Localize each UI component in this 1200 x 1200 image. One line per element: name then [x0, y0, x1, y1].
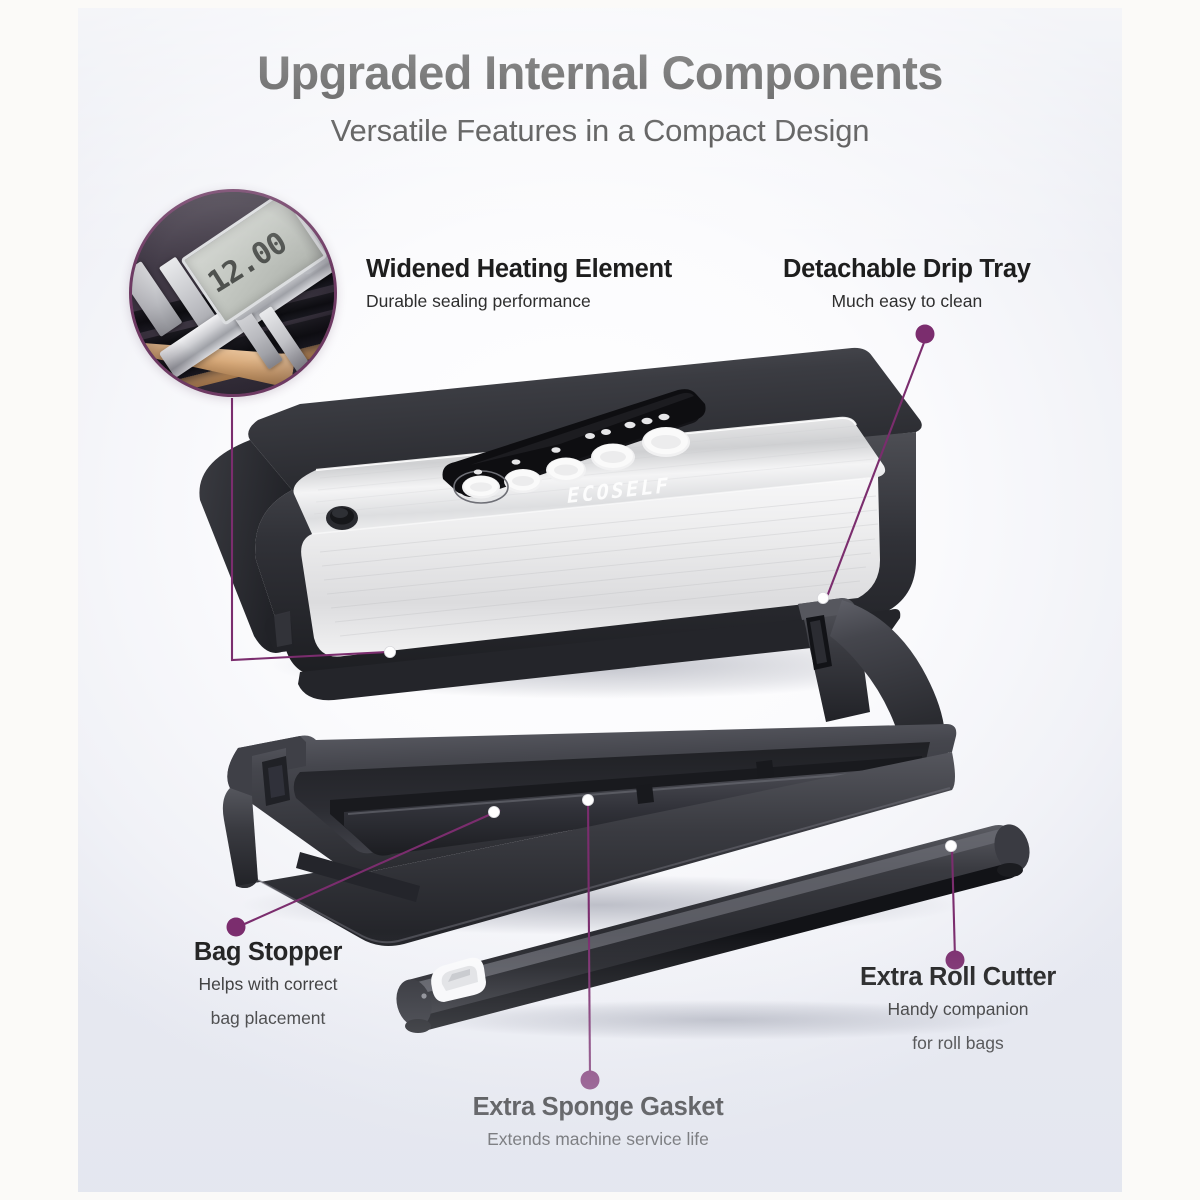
panel-button-4: [591, 444, 635, 471]
leader-dot-drip: [916, 325, 935, 344]
callout-subtitle: Helps with correct bag placement: [148, 972, 388, 1031]
panel-button-3: [546, 458, 586, 483]
callout-heating-element: Widened Heating Element Durable sealing …: [366, 255, 672, 314]
infographic-canvas: Upgraded Internal Components Versatile F…: [78, 8, 1122, 1192]
anchor-drip: [817, 592, 828, 603]
infographic-root: Upgraded Internal Components Versatile F…: [0, 0, 1200, 1200]
anchor-heating: [384, 646, 395, 657]
callout-title: Extra Roll Cutter: [843, 963, 1073, 992]
panel-button-1-power: [454, 471, 508, 503]
anchor-bag: [488, 806, 499, 817]
anchor-cutter: [945, 840, 956, 851]
callout-subtitle: Handy companion for roll bags: [843, 997, 1073, 1056]
callout-subtitle: Durable sealing performance: [366, 289, 672, 314]
callout-title: Widened Heating Element: [366, 255, 672, 284]
leader-dot-bag: [227, 918, 246, 937]
heating-element-inset-photo: 12.00: [129, 189, 337, 397]
inset-vignette: [132, 192, 334, 394]
callout-subtitle-line2: for roll bags: [843, 1031, 1073, 1056]
callout-subtitle: Much easy to clean: [783, 289, 1031, 314]
panel-button-2: [504, 469, 542, 493]
callout-sponge-gasket: Extra Sponge Gasket Extends machine serv…: [453, 1093, 743, 1152]
anchor-sponge: [582, 794, 593, 805]
callout-title: Bag Stopper: [148, 938, 388, 967]
callout-bag-stopper: Bag Stopper Helps with correct bag place…: [148, 938, 388, 1031]
leader-dot-sponge: [581, 1071, 600, 1090]
callout-title: Extra Sponge Gasket: [453, 1093, 743, 1122]
callout-subtitle-line1: Handy companion: [887, 999, 1028, 1019]
callout-drip-tray: Detachable Drip Tray Much easy to clean: [783, 255, 1031, 314]
callout-subtitle-line2: bag placement: [148, 1006, 388, 1031]
callout-subtitle-line1: Helps with correct: [198, 974, 337, 994]
accessory-port: [326, 506, 358, 530]
panel-button-5: [642, 427, 690, 457]
callout-subtitle: Extends machine service life: [453, 1127, 743, 1152]
callout-roll-cutter: Extra Roll Cutter Handy companion for ro…: [843, 963, 1073, 1056]
callout-title: Detachable Drip Tray: [783, 255, 1031, 284]
